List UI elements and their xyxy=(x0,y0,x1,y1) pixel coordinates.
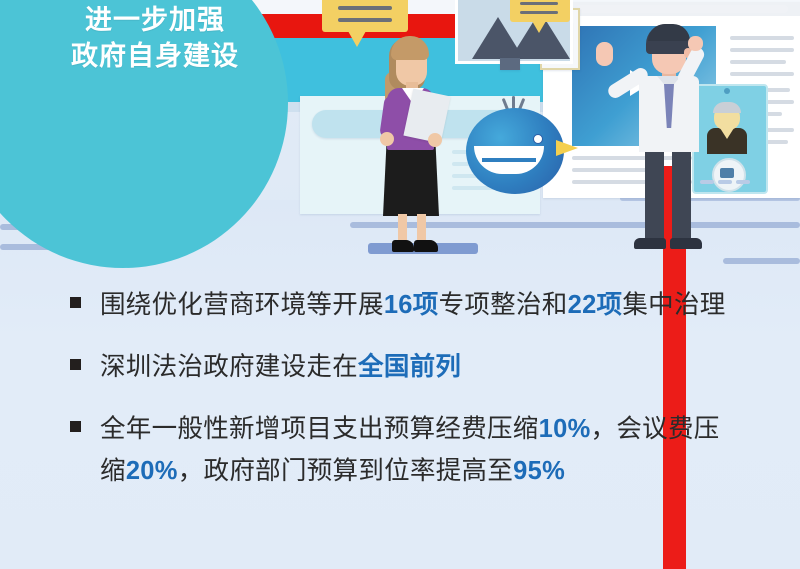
bullet-marker-icon xyxy=(70,421,81,432)
browser-text-line xyxy=(730,72,794,76)
bullet-highlight: 20% xyxy=(126,457,178,485)
floor-line-6 xyxy=(723,258,800,264)
bullet-text: 深圳法治政府建设走在全国前列 xyxy=(100,346,461,388)
bullet-item: 深圳法治政府建设走在全国前列 xyxy=(70,346,730,388)
infographic-poster: 进一步加强 政府自身建设 围绕优化营商环境等开展16项专项整治和22项集中治理深… xyxy=(0,0,800,569)
bullet-list: 围绕优化营商环境等开展16项专项整治和22项集中治理深圳法治政府建设走在全国前列… xyxy=(70,284,730,512)
man-left-shoe xyxy=(634,238,666,249)
bullet-plain: 专项整治和 xyxy=(439,291,568,319)
speech-bubble xyxy=(322,0,408,32)
woman-left-shoe xyxy=(392,240,414,252)
man-raised-hand xyxy=(688,36,703,51)
avatar-hair xyxy=(713,102,741,113)
speech-bubble-tail xyxy=(348,31,366,47)
bullet-marker-icon xyxy=(70,359,81,370)
woman-skirt xyxy=(383,146,439,216)
photo-card-stand xyxy=(500,58,520,70)
woman-left-hand xyxy=(380,132,394,146)
poster-title-line-1: 进一步加强 xyxy=(30,2,280,38)
browser-text-line xyxy=(730,36,794,40)
man-extended-hand xyxy=(596,42,613,66)
speech-bubble-line xyxy=(520,11,558,14)
speech-bubble-line xyxy=(520,2,558,5)
bullet-text: 全年一般性新增项目支出预算经费压缩10%，会议费压缩20%，政府部门预算到位率提… xyxy=(100,408,730,492)
speech-bubble-line xyxy=(338,18,392,22)
speech-bubble-line xyxy=(338,6,392,10)
bird-mouth-line xyxy=(482,158,536,162)
bullet-highlight: 95% xyxy=(513,457,565,485)
browser-text-line xyxy=(730,48,794,52)
bullet-plain: 全年一般性新增项目支出预算经费压缩 xyxy=(100,415,539,443)
poster-title-line-2: 政府自身建设 xyxy=(30,38,280,74)
woman-right-hand xyxy=(428,133,442,147)
man-left-leg xyxy=(645,148,664,244)
browser-text-line xyxy=(730,60,786,64)
bullet-plain: 深圳法治政府建设走在 xyxy=(100,353,358,381)
tablet-dock-line xyxy=(736,180,750,184)
tablet-dock-line xyxy=(718,180,732,184)
bullet-marker-icon xyxy=(70,297,81,308)
browser-address-bar xyxy=(576,5,788,13)
bullet-item: 围绕优化营商环境等开展16项专项整治和22项集中治理 xyxy=(70,284,730,326)
tablet-camera-icon xyxy=(724,88,730,94)
poster-title: 进一步加强 政府自身建设 xyxy=(30,2,280,74)
bird-beak-icon xyxy=(556,140,578,156)
bullet-highlight: 22项 xyxy=(568,291,623,319)
bullet-highlight: 10% xyxy=(539,415,591,443)
bullet-plain: 围绕优化营商环境等开展 xyxy=(100,291,384,319)
speech-bubble-tail xyxy=(532,21,546,33)
bullet-highlight: 16项 xyxy=(384,291,439,319)
bullet-text: 围绕优化营商环境等开展16项专项整治和22项集中治理 xyxy=(100,284,726,326)
bullet-highlight: 全国前列 xyxy=(358,353,461,381)
bird-eye xyxy=(533,134,543,144)
floor-line-2 xyxy=(350,222,650,228)
bullet-item: 全年一般性新增项目支出预算经费压缩10%，会议费压缩20%，政府部门预算到位率提… xyxy=(70,408,730,492)
tablet-dock-line xyxy=(700,180,714,184)
floor-line-3 xyxy=(680,222,800,228)
camera-glyph-icon xyxy=(720,168,734,178)
man-right-shoe xyxy=(670,238,702,249)
man-right-leg xyxy=(672,148,691,244)
woman-right-shoe xyxy=(414,240,438,252)
bullet-plain: ，政府部门预算到位率提高至 xyxy=(178,457,513,485)
bullet-plain: 集中治理 xyxy=(622,291,725,319)
